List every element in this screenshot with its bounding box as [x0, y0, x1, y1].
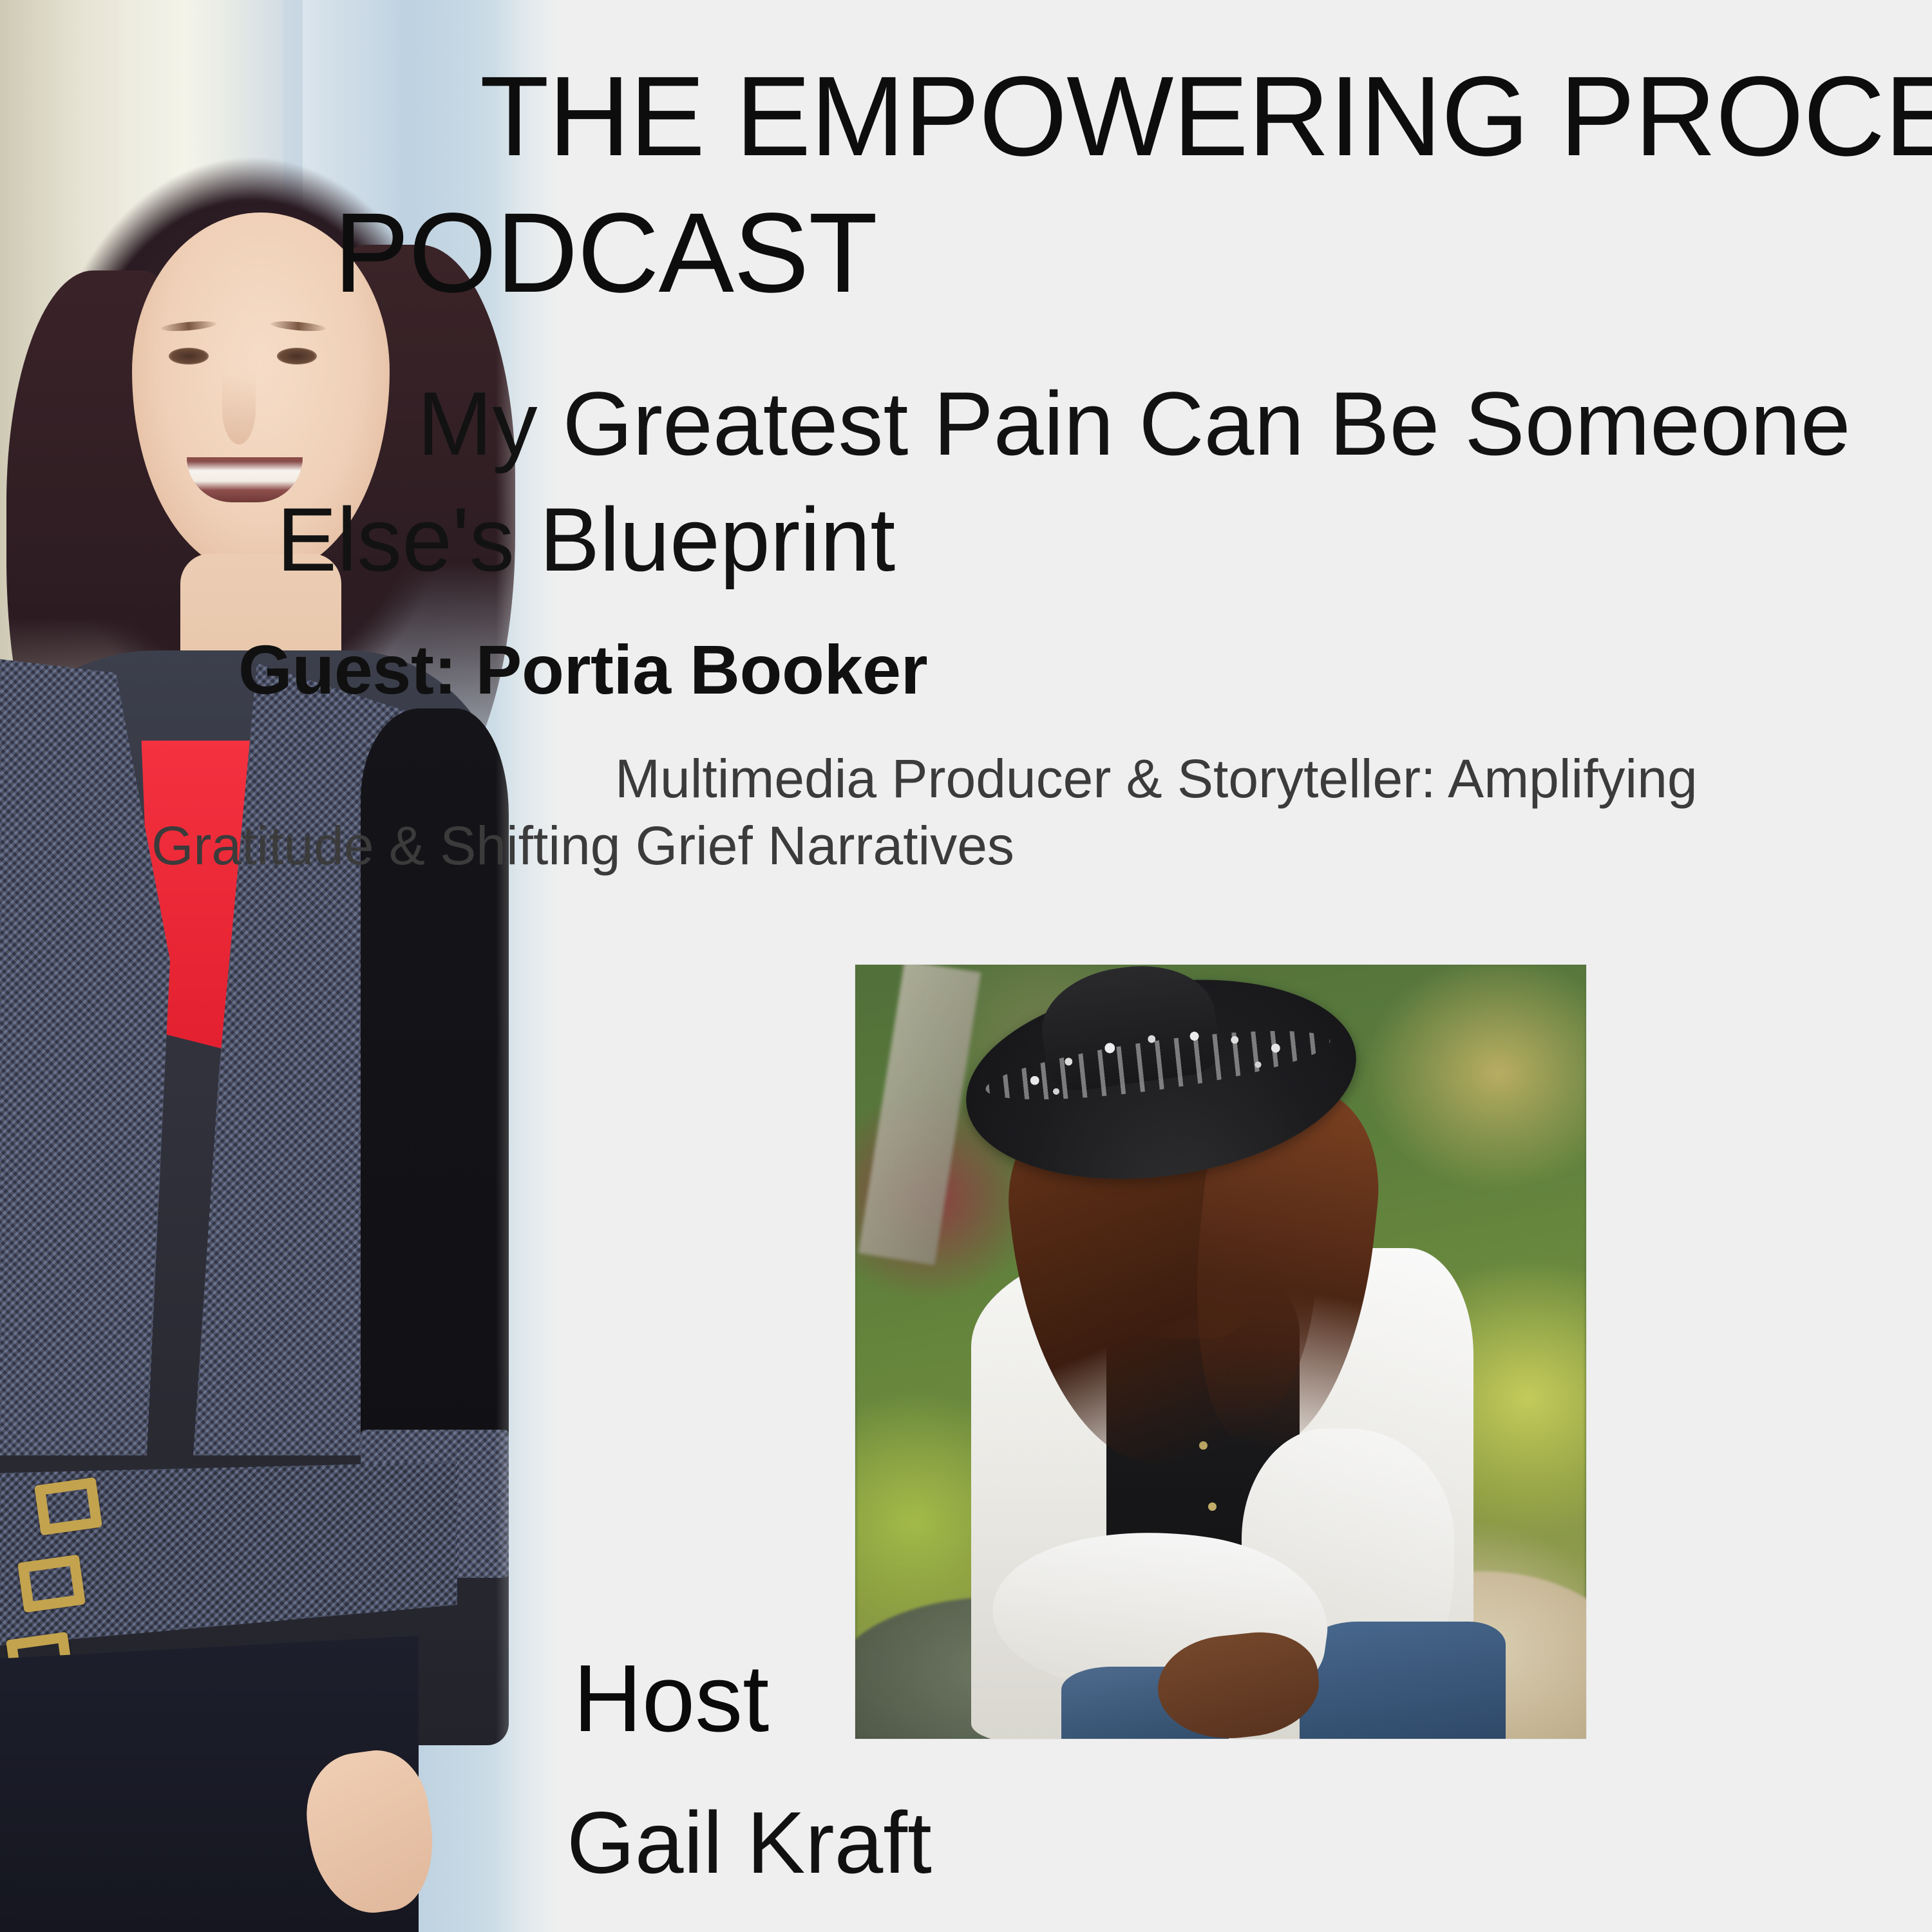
- host-label: Host: [573, 1649, 769, 1748]
- guest-tagline-line-1: Multimedia Producer & Storyteller: Ampli…: [615, 746, 1932, 811]
- episode-title-line-2: Else's Blueprint: [0, 489, 1932, 591]
- guest-photo: [855, 965, 1586, 1739]
- guest-label: Guest: Portia Booker: [0, 631, 1932, 709]
- host-nose: [222, 374, 256, 444]
- host-eye-left: [169, 348, 209, 365]
- host-name: Gail Kraft: [567, 1797, 932, 1889]
- host-eye-right: [277, 348, 317, 365]
- podcast-title-line-1: THE EMPOWERING PROCESS: [480, 57, 1932, 177]
- guest-photo-overlay: [855, 965, 1586, 1739]
- episode-title-line-1: My Greatest Pain Can Be Someone: [417, 374, 1932, 475]
- host-belt-buckle-2: [17, 1555, 86, 1613]
- podcast-cover: THE EMPOWERING PROCESS PODCAST My Greate…: [0, 0, 1932, 1932]
- podcast-title-line-2: PODCAST: [0, 193, 1932, 314]
- host-belt-buckle-1: [34, 1477, 102, 1536]
- guest-tagline-line-2: Gratitude & Shifting Grief Narratives: [0, 813, 1932, 878]
